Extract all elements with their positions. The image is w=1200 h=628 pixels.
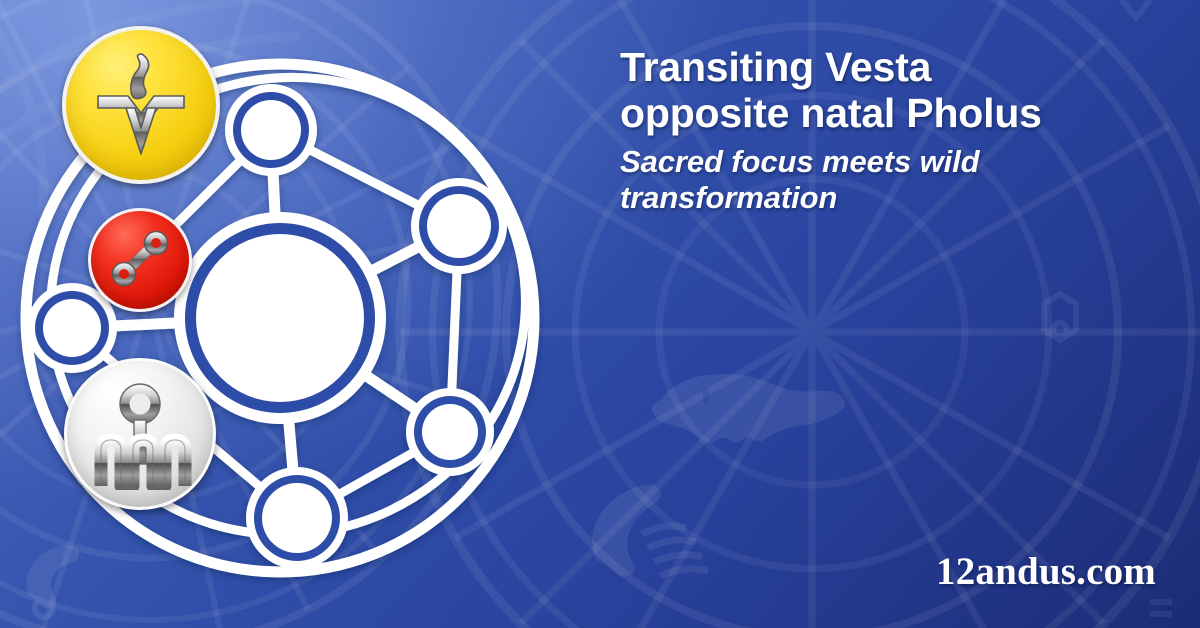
satellite-node-bottom (246, 467, 348, 569)
pholus-badge-grey (64, 358, 216, 510)
headline-block: Transiting Vesta opposite natal Pholus S… (620, 44, 1165, 216)
vesta-glyph (82, 46, 200, 164)
vesta-badge (62, 26, 220, 184)
pholus-glyph (103, 223, 177, 297)
subtitle-line-2: transformation (620, 180, 1165, 216)
centaur-glyph (87, 378, 193, 490)
page-subtitle: Sacred focus meets wild transformation (620, 144, 1165, 217)
astrology-transit-banner: Transiting Vesta opposite natal Pholus S… (0, 0, 1200, 628)
page-title: Transiting Vesta opposite natal Pholus (620, 44, 1165, 137)
headline-line-1: Transiting Vesta (620, 44, 1165, 90)
subtitle-line-1: Sacred focus meets wild (620, 144, 1165, 180)
brand-wordmark[interactable]: 12andus.com (936, 549, 1156, 594)
satellite-node-top (225, 84, 317, 176)
headline-line-2: opposite natal Pholus (620, 90, 1165, 136)
satellite-node-right-lower (406, 388, 494, 476)
hub-node (174, 212, 386, 424)
satellite-node-right-upper (411, 178, 507, 274)
pholus-badge-red (88, 208, 192, 312)
